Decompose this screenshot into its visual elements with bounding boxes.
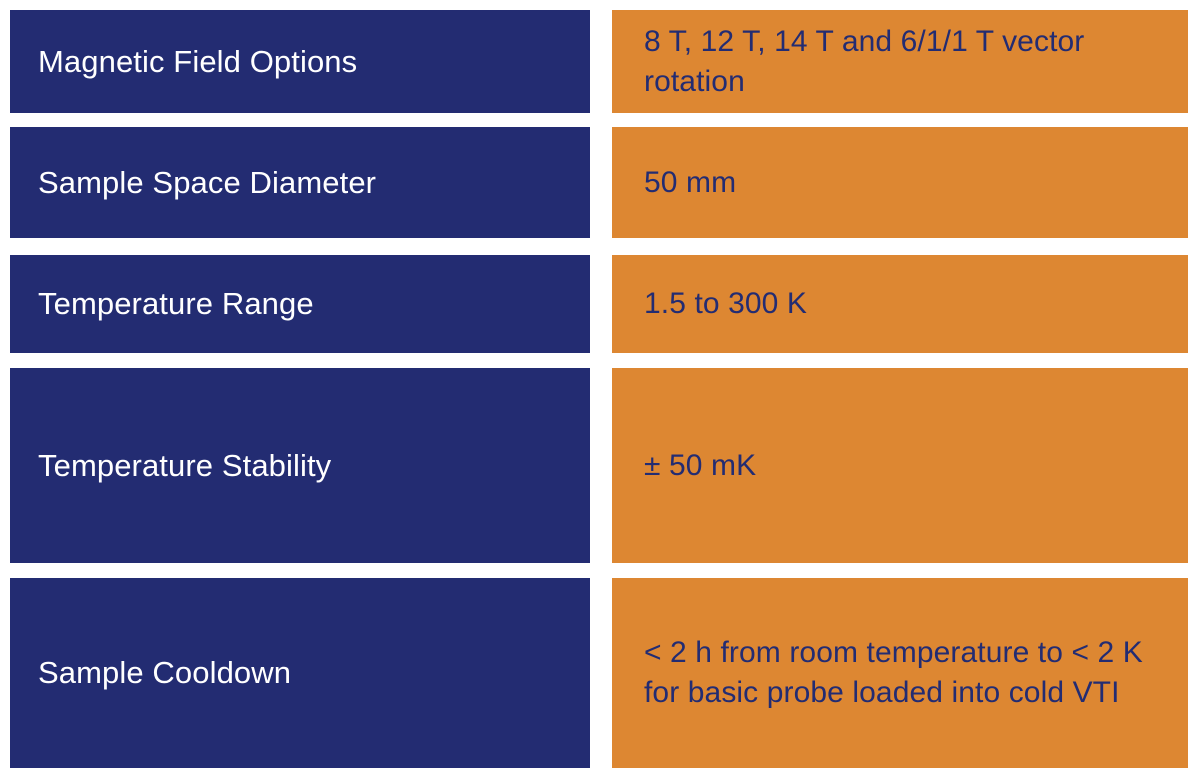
spec-value-text: 1.5 to 300 K xyxy=(644,284,807,324)
specification-table: Magnetic Field Options 8 T, 12 T, 14 T a… xyxy=(0,0,1200,783)
spec-value-text: 8 T, 12 T, 14 T and 6/1/1 T vector rotat… xyxy=(644,22,1166,102)
spec-label-text: Magnetic Field Options xyxy=(38,42,357,82)
spec-value-text: ± 50 mK xyxy=(644,446,756,486)
spec-label-text: Sample Space Diameter xyxy=(38,163,376,203)
spec-label-cell: Sample Cooldown xyxy=(10,578,590,768)
spec-label-cell: Magnetic Field Options xyxy=(10,10,590,113)
table-row: Sample Cooldown < 2 h from room temperat… xyxy=(0,578,1200,768)
spec-label-text: Sample Cooldown xyxy=(38,653,291,693)
spec-label-cell: Temperature Range xyxy=(10,255,590,353)
spec-value-cell: 8 T, 12 T, 14 T and 6/1/1 T vector rotat… xyxy=(612,10,1188,113)
spec-value-cell: 1.5 to 300 K xyxy=(612,255,1188,353)
spec-label-text: Temperature Range xyxy=(38,284,314,324)
spec-label-cell: Temperature Stability xyxy=(10,368,590,563)
spec-value-cell: ± 50 mK xyxy=(612,368,1188,563)
spec-value-text: < 2 h from room temperature to < 2 K for… xyxy=(644,633,1166,713)
spec-value-text: 50 mm xyxy=(644,163,736,203)
table-row: Magnetic Field Options 8 T, 12 T, 14 T a… xyxy=(0,10,1200,113)
table-row: Sample Space Diameter 50 mm xyxy=(0,127,1200,238)
spec-value-cell: < 2 h from room temperature to < 2 K for… xyxy=(612,578,1188,768)
table-row: Temperature Stability ± 50 mK xyxy=(0,368,1200,563)
spec-label-cell: Sample Space Diameter xyxy=(10,127,590,238)
spec-label-text: Temperature Stability xyxy=(38,446,331,486)
table-row: Temperature Range 1.5 to 300 K xyxy=(0,255,1200,353)
spec-value-cell: 50 mm xyxy=(612,127,1188,238)
